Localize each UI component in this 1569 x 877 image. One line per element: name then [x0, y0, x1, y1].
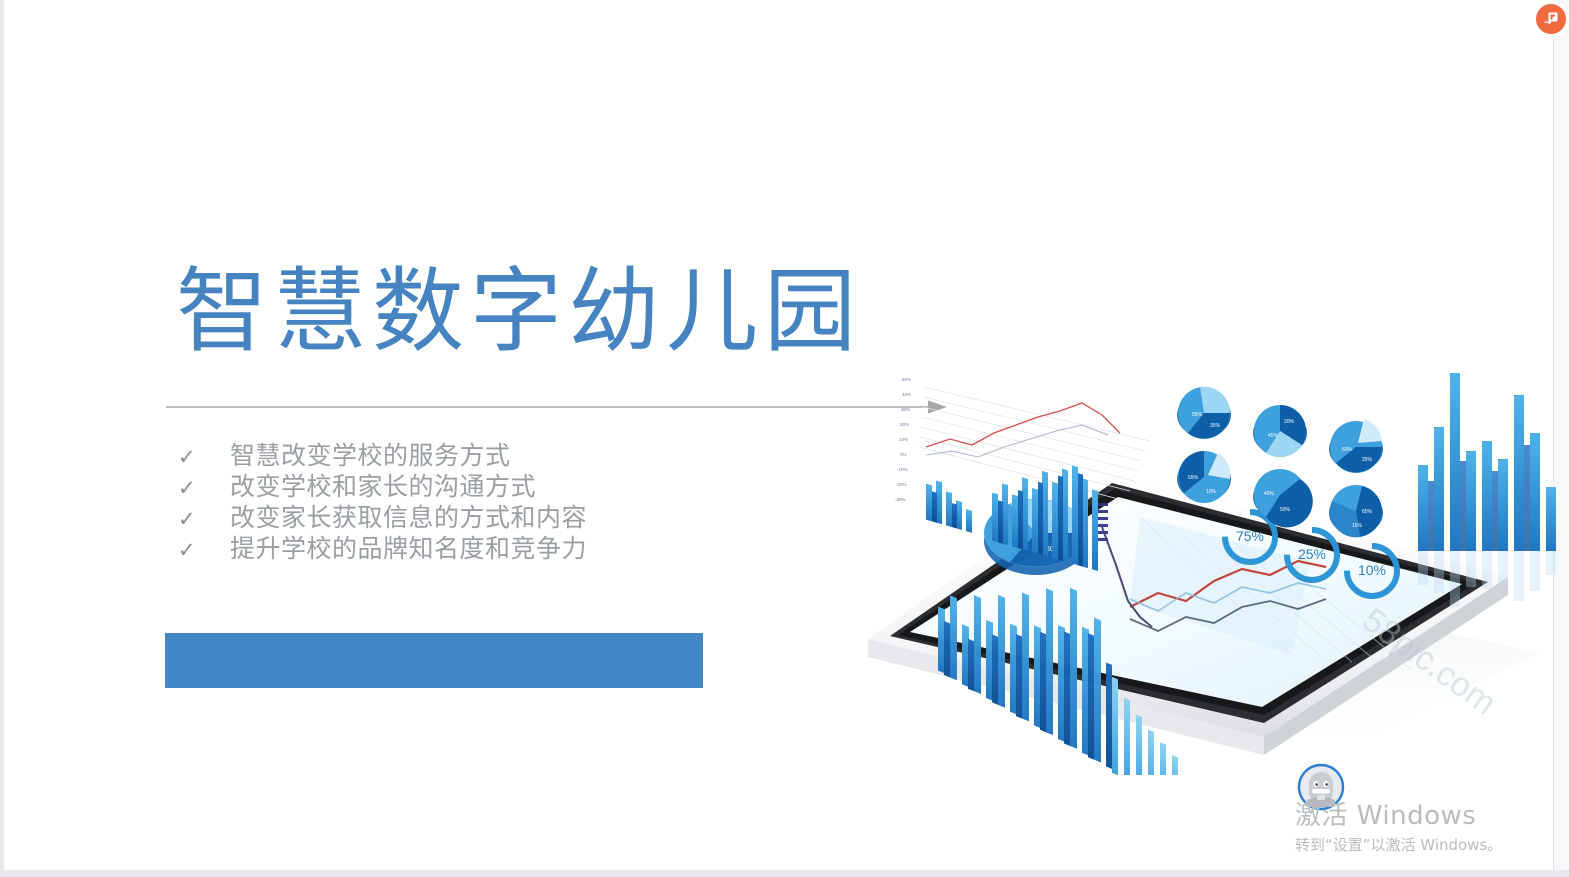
- window-left-border: [0, 0, 4, 877]
- svg-text:20%: 20%: [900, 422, 909, 427]
- svg-text:65%: 65%: [1362, 509, 1373, 515]
- tablet-analytics-illustration: 45% 60% 15%: [840, 355, 1569, 775]
- activation-subtitle: 转到“设置”以激活 Windows。: [1295, 834, 1557, 856]
- svg-text:60%: 60%: [1342, 447, 1353, 453]
- svg-text:30%: 30%: [901, 407, 910, 412]
- list-item: ✓ 提升学校的品牌知名度和竞争力: [178, 533, 818, 564]
- svg-text:40%: 40%: [1264, 491, 1275, 497]
- svg-text:25%: 25%: [1298, 546, 1326, 562]
- svg-text:75%: 75%: [1236, 528, 1264, 544]
- svg-text:55%: 55%: [1192, 412, 1203, 418]
- svg-text:20%: 20%: [1284, 419, 1295, 425]
- accent-bar: [165, 633, 703, 688]
- svg-text:45%: 45%: [1268, 433, 1279, 439]
- copy-slide-icon: [1542, 10, 1560, 28]
- svg-text:-30%: -30%: [895, 497, 906, 502]
- check-icon: ✓: [178, 473, 230, 504]
- list-item-label: 提升学校的品牌知名度和竞争力: [230, 533, 587, 564]
- svg-text:25%: 25%: [1362, 457, 1373, 463]
- svg-text:0%: 0%: [900, 452, 907, 457]
- svg-text:-10%: -10%: [897, 467, 908, 472]
- window-bottom-border: [0, 870, 1569, 877]
- svg-text:50%: 50%: [902, 377, 911, 382]
- slide-export-icon[interactable]: [1536, 4, 1566, 34]
- svg-text:10%: 10%: [1206, 489, 1217, 495]
- svg-text:40%: 40%: [902, 392, 911, 397]
- svg-text:50%: 50%: [1280, 507, 1291, 513]
- bullet-list: ✓ 智慧改变学校的服务方式 ✓ 改变学校和家长的沟通方式 ✓ 改变家长获取信息的…: [178, 440, 818, 564]
- page-title: 智慧数字幼儿园: [176, 262, 862, 361]
- check-icon: ✓: [178, 442, 230, 473]
- svg-text:35%: 35%: [1210, 423, 1221, 429]
- list-item: ✓ 改变学校和家长的沟通方式: [178, 471, 818, 502]
- list-item: ✓ 智慧改变学校的服务方式: [178, 440, 818, 471]
- list-item-label: 智慧改变学校的服务方式: [230, 440, 511, 471]
- svg-text:15%: 15%: [1352, 523, 1363, 529]
- right-tall-bar-chart: [1418, 373, 1556, 607]
- title-underline-arrow: [166, 398, 948, 416]
- list-item-label: 改变家长获取信息的方式和内容: [230, 502, 587, 533]
- list-item-label: 改变学校和家长的沟通方式: [230, 471, 536, 502]
- svg-text:10%: 10%: [1358, 562, 1386, 578]
- list-item: ✓ 改变家长获取信息的方式和内容: [178, 502, 818, 533]
- svg-text:10%: 10%: [899, 437, 908, 442]
- svg-text:-20%: -20%: [896, 482, 907, 487]
- presentation-slide: 智慧数字幼儿园 ✓ 智慧改变学校的服务方式 ✓ 改变学校和家长的沟通方式 ✓ 改…: [0, 0, 1569, 877]
- check-icon: ✓: [178, 504, 230, 535]
- check-icon: ✓: [178, 535, 230, 566]
- robot-avatar: [1297, 763, 1345, 811]
- svg-text:65%: 65%: [1188, 475, 1199, 481]
